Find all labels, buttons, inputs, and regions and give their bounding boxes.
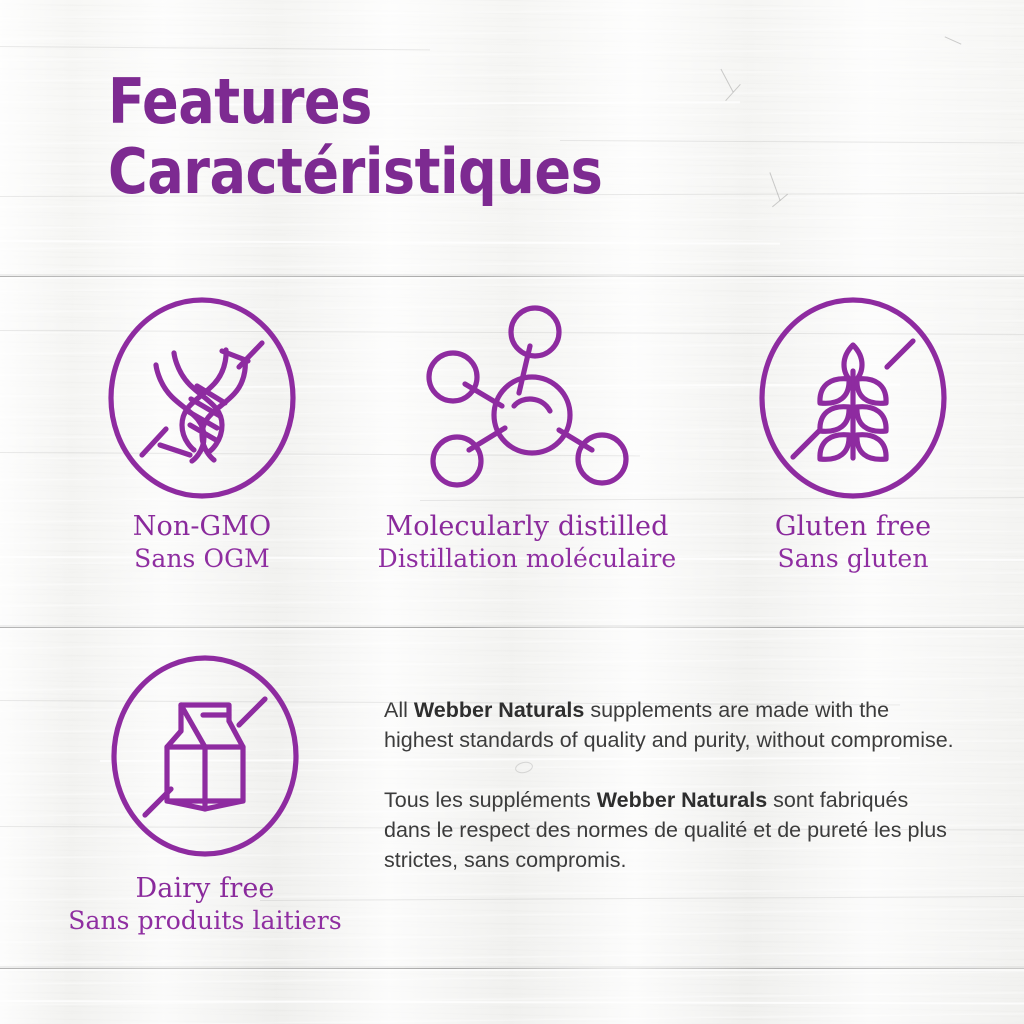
feature-label-fr: Sans gluten: [718, 545, 988, 574]
feature-label-en: Molecularly distilled: [362, 512, 692, 543]
feature-label-fr: Distillation moléculaire: [362, 545, 692, 574]
copy-en-before: All: [384, 698, 414, 722]
feature-label-dairy-free: Dairy free Sans produits laitiers: [55, 874, 355, 935]
no-wheat-icon: [718, 292, 988, 504]
feature-label-en: Non-GMO: [52, 512, 352, 543]
feature-item-non-gmo: Non-GMO Sans OGM: [52, 292, 352, 573]
brand-copy-french: Tous les suppléments Webber Naturals son…: [384, 785, 954, 875]
copy-fr-before: Tous les suppléments: [384, 788, 597, 812]
product-features-panel: Features Caractéristiques: [0, 0, 1024, 1024]
feature-label-fr: Sans produits laitiers: [55, 907, 355, 936]
feature-label-non-gmo: Non-GMO Sans OGM: [52, 512, 352, 573]
page-title: Features Caractéristiques: [108, 72, 968, 201]
brand-name: Webber Naturals: [597, 788, 767, 812]
feature-label-molecularly-distilled: Molecularly distilled Distillation moléc…: [362, 512, 692, 573]
brand-copy-block: All Webber Naturals supplements are made…: [384, 695, 954, 875]
feature-item-dairy-free: Dairy free Sans produits laitiers: [55, 650, 355, 935]
feature-label-en: Dairy free: [55, 874, 355, 905]
no-dna-icon: [52, 292, 352, 504]
page-title-english: Features: [108, 72, 942, 132]
feature-label-en: Gluten free: [718, 512, 988, 543]
page-title-french: Caractéristiques: [108, 142, 942, 202]
molecule-icon: [362, 292, 692, 504]
feature-row-top: Non-GMO Sans OGM: [0, 292, 1024, 573]
feature-label-fr: Sans OGM: [52, 545, 352, 574]
feature-label-gluten-free: Gluten free Sans gluten: [718, 512, 988, 573]
feature-item-molecularly-distilled: Molecularly distilled Distillation moléc…: [362, 292, 692, 573]
brand-copy-english: All Webber Naturals supplements are made…: [384, 695, 954, 755]
no-dairy-carton-icon: [55, 650, 355, 862]
feature-item-gluten-free: Gluten free Sans gluten: [718, 292, 988, 573]
brand-name: Webber Naturals: [414, 698, 584, 722]
